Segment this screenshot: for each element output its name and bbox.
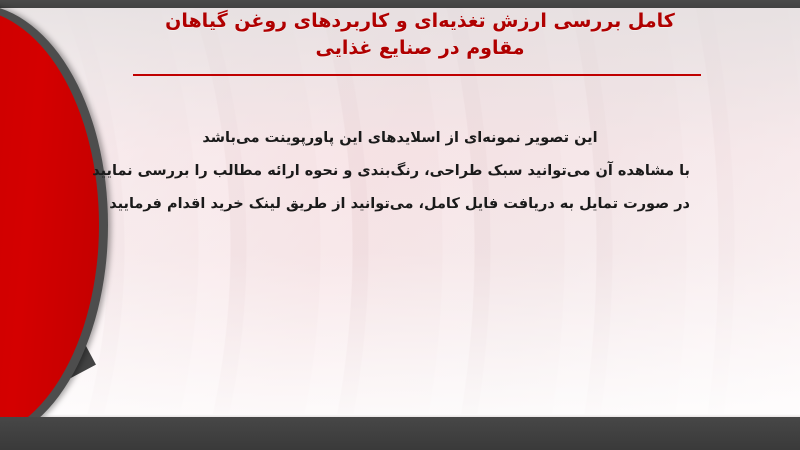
slide-title-line-2: مقاوم در صنایع غذایی: [120, 35, 720, 62]
presentation-slide: کامل بررسی ارزش تغذیه‌ای و کاربردهای روغ…: [0, 0, 800, 450]
body-line-3: در صورت تمایل به دریافت فایل کامل، می‌تو…: [110, 188, 690, 221]
slide-title: کامل بررسی ارزش تغذیه‌ای و کاربردهای روغ…: [120, 8, 720, 62]
title-divider-rule: [133, 74, 701, 76]
slide-title-line-1: کامل بررسی ارزش تغذیه‌ای و کاربردهای روغ…: [120, 8, 720, 35]
slide-bottom-band: [0, 417, 800, 450]
body-line-1: این تصویر نمونه‌ای از اسلایدهای این پاور…: [110, 122, 690, 155]
body-line-2: با مشاهده آن می‌توانید سبک طراحی، رنگ‌بن…: [110, 155, 690, 188]
slide-body-text: این تصویر نمونه‌ای از اسلایدهای این پاور…: [110, 122, 690, 221]
